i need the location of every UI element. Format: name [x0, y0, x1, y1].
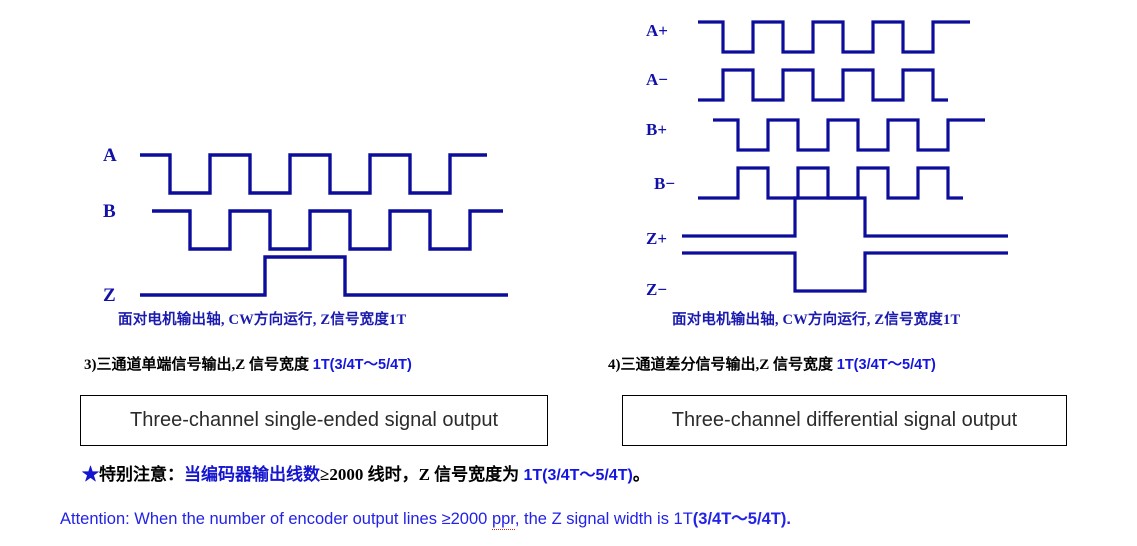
signal-z-label: Z: [103, 285, 116, 306]
signal-a-label: A: [103, 145, 117, 166]
attention-en-part1: Attention: When the number of encoder ou…: [60, 510, 442, 528]
signal-a-plus-waveform: [698, 22, 970, 52]
single-ended-numbered-caption: 3)三通道单端信号输出,Z 信号宽度 1T(3/4T～5/4T): [84, 353, 412, 374]
single-ended-caption-highlight: 1T(3/4T～5/4T): [313, 357, 412, 373]
signal-z-plus-waveform: [682, 198, 1008, 236]
differential-numbered-caption: 4)三通道差分信号输出,Z 信号宽度 1T(3/4T～5/4T): [608, 353, 936, 374]
differential-waveform-panel: A+ A− B+ B− Z+ Z−: [640, 8, 1040, 308]
differential-caption-highlight: 1T(3/4T～5/4T): [837, 357, 936, 373]
attention-cn-tail: 。: [633, 465, 650, 484]
single-ended-caption-prefix: 3)三通道单端信号输出,: [84, 357, 235, 373]
attention-note-cn: ★特别注意：当编码器输出线数≥2000 线时，Z 信号宽度为 1T(3/4T～5…: [82, 460, 650, 485]
signal-b-label: B: [103, 201, 116, 222]
attention-cn-body2: 线时，: [363, 465, 418, 484]
attention-en-ppr: ppr: [492, 510, 515, 530]
attention-cn-num: 2000: [329, 465, 363, 484]
differential-caption-middle: Z 信号宽度: [759, 357, 837, 373]
single-ended-cn-caption: 面对电机输出轴, CW方向运行, Z信号宽度1T: [118, 308, 406, 329]
signal-z-plus-label: Z+: [646, 229, 667, 248]
signal-a-plus-label: A+: [646, 21, 668, 40]
attention-note-en: Attention: When the number of encoder ou…: [60, 505, 791, 529]
differential-cn-caption: 面对电机输出轴, CW方向运行, Z信号宽度1T: [672, 308, 960, 329]
attention-en-ge-num: ≥2000: [442, 510, 488, 528]
signal-b-plus-waveform: [713, 120, 985, 150]
attention-en-part2: , the Z signal width is 1T: [515, 510, 693, 528]
attention-cn-ge: ≥: [320, 465, 329, 484]
signal-a-waveform: [140, 155, 487, 193]
attention-en-tail: .: [786, 510, 791, 528]
single-ended-waveform-svg: A B Z: [95, 138, 520, 313]
single-ended-caption-middle: Z 信号宽度: [235, 357, 313, 373]
star-icon: ★: [82, 465, 99, 484]
differential-en-box-label: Three-channel differential signal output: [672, 409, 1017, 432]
single-ended-en-box-label: Three-channel single-ended signal output: [130, 409, 498, 432]
differential-caption-prefix: 4)三通道差分信号输出,: [608, 357, 759, 373]
differential-waveform-svg: A+ A− B+ B− Z+ Z−: [640, 8, 1040, 308]
signal-z-waveform: [140, 257, 508, 295]
signal-b-minus-waveform: [698, 168, 963, 198]
differential-en-box: Three-channel differential signal output: [622, 395, 1067, 446]
signal-z-minus-waveform: [682, 253, 1008, 291]
attention-cn-lead: 特别注意：: [99, 465, 184, 484]
signal-a-minus-waveform: [698, 70, 948, 100]
single-ended-waveform-panel: A B Z: [95, 138, 520, 313]
signal-b-waveform: [152, 211, 503, 249]
signal-z-minus-label: Z−: [646, 280, 667, 299]
signal-b-plus-label: B+: [646, 120, 667, 139]
single-ended-en-box: Three-channel single-ended signal output: [80, 395, 548, 446]
signal-b-minus-label: B−: [654, 174, 675, 193]
diagram-canvas: A B Z 面对电机输出轴, CW方向运行, Z信号宽度1T 3)三通道单端信号…: [0, 0, 1137, 546]
attention-cn-highlight: 1T(3/4T～5/4T): [523, 467, 632, 484]
attention-en-highlight: (3/4T～5/4T): [693, 510, 787, 528]
signal-a-minus-label: A−: [646, 70, 668, 89]
attention-cn-body1: 当编码器输出线数: [184, 465, 320, 484]
attention-cn-body3: Z 信号宽度为: [419, 465, 524, 484]
